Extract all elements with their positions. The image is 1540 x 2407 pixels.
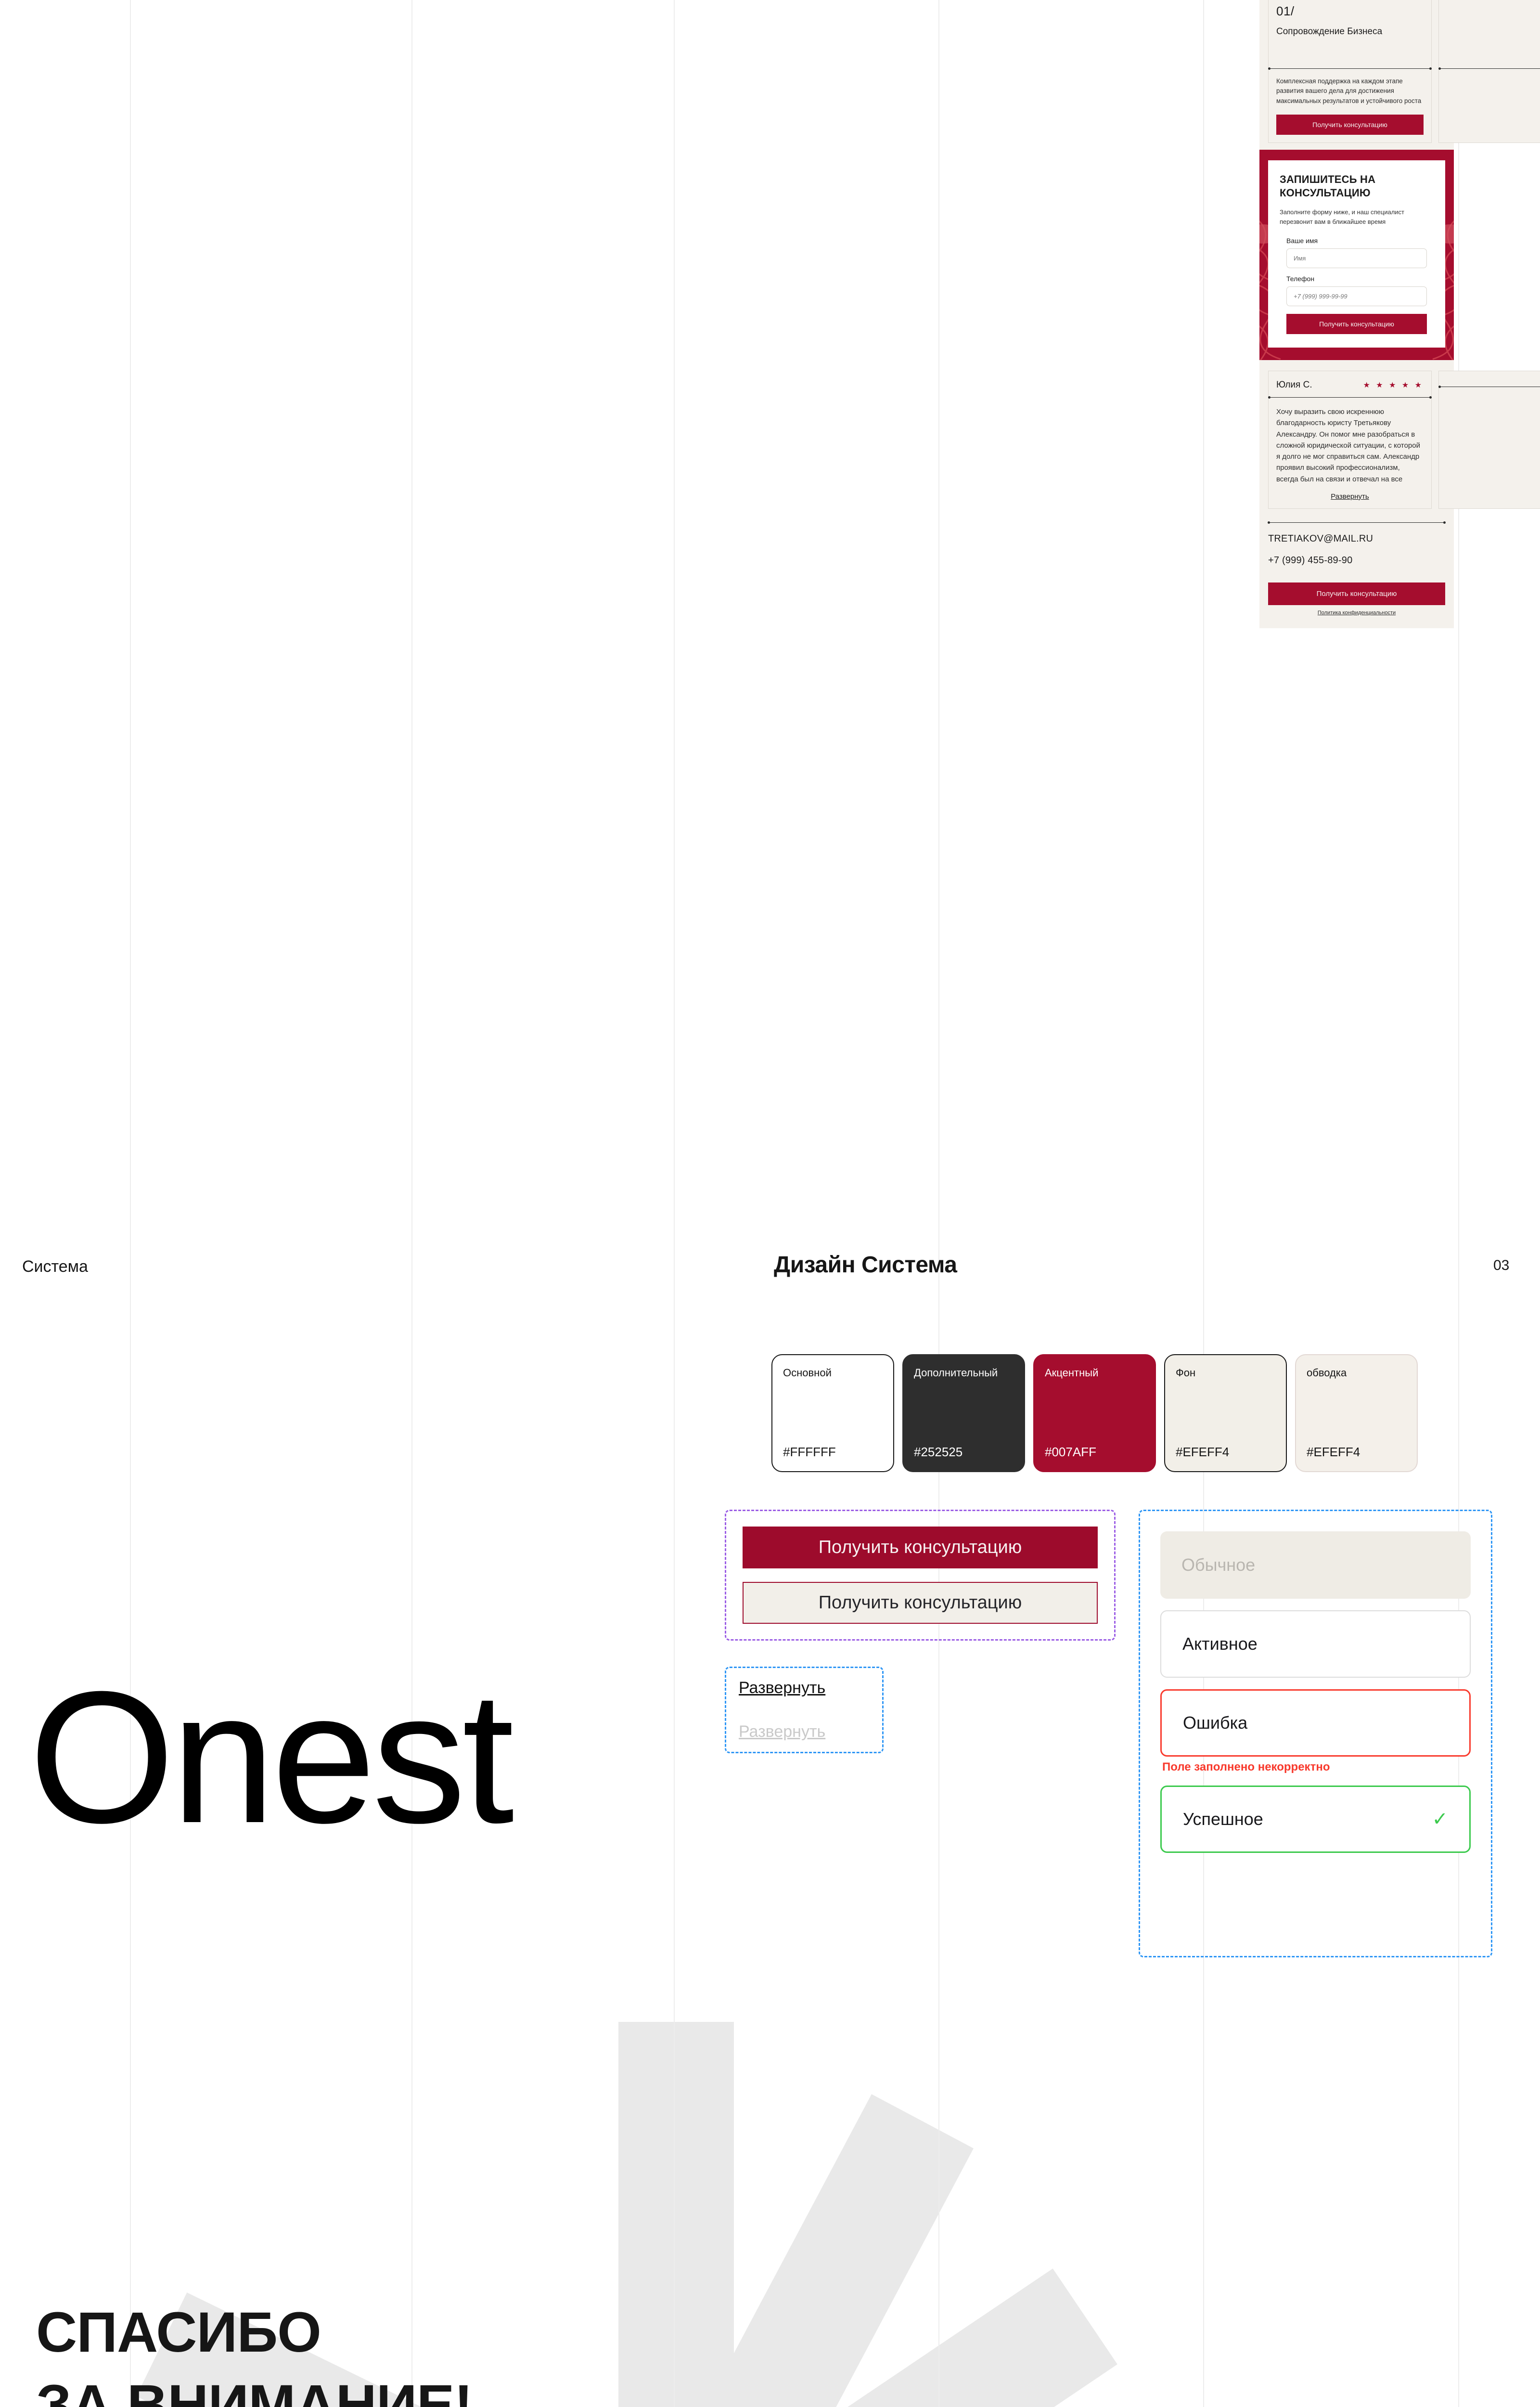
- divider: [1439, 68, 1540, 69]
- consultation-section: ЗАПИШИТЕСЬ НА КОНСУЛЬТАЦИЮ Заполните фор…: [1259, 150, 1454, 360]
- service-card-header: 01/ Сопровождение Бизнеса: [1269, 0, 1431, 68]
- consultation-submit-button[interactable]: Получить консультацию: [1286, 314, 1427, 334]
- review-card[interactable]: Юлия С. ★ ★ ★ ★ ★ Хочу выразить свою иск…: [1268, 371, 1432, 509]
- review-body: [1439, 387, 1540, 403]
- input-spec-group: Обычное Активное Ошибка Поле заполнено н…: [1139, 1510, 1492, 1957]
- color-swatch[interactable]: обводка #EFEFF4: [1295, 1354, 1418, 1472]
- swatch-hex: #EFEFF4: [1307, 1445, 1406, 1460]
- services-section: УСЛУГИ 01/ Сопровождение Бизнеса Комплек…: [1259, 0, 1454, 150]
- input-state-success[interactable]: Успешное ✓: [1160, 1786, 1471, 1853]
- thank-you-line-2: ЗА ВНИМАНИЕ!: [36, 2369, 473, 2407]
- review-card-next[interactable]: [1438, 371, 1540, 509]
- name-field-label: Ваше имя: [1286, 237, 1434, 245]
- input-state-active[interactable]: Активное: [1160, 1610, 1471, 1678]
- swatch-name: Акцентный: [1045, 1367, 1144, 1379]
- review-author: Юлия С.: [1276, 380, 1312, 390]
- font-specimen-onest: Onest: [29, 1663, 511, 1851]
- service-description: Комплексная поддержка на каждом этапе ра…: [1276, 77, 1424, 106]
- color-swatch[interactable]: Фон #EFEFF4: [1164, 1354, 1287, 1472]
- swatch-hex: #EFEFF4: [1176, 1445, 1275, 1460]
- color-swatch[interactable]: Основной #FFFFFF: [771, 1354, 894, 1472]
- expand-link-disabled: Развернуть: [739, 1722, 870, 1741]
- divider: [1269, 68, 1431, 69]
- expand-link[interactable]: Развернуть: [739, 1679, 870, 1697]
- phone-field-label: Телефон: [1286, 275, 1434, 283]
- contact-phone[interactable]: +7 (999) 455-89-90: [1268, 555, 1445, 566]
- swatch-name: Основной: [783, 1367, 883, 1379]
- review-header: Юлия С. ★ ★ ★ ★ ★: [1269, 371, 1431, 397]
- name-input[interactable]: [1286, 248, 1427, 268]
- color-swatch[interactable]: Дополнительный #252525: [902, 1354, 1025, 1472]
- service-card-body: Комплексная поддержка на каждом этапе ра…: [1269, 69, 1431, 142]
- swatch-name: обводка: [1307, 1367, 1406, 1379]
- divider: [1439, 387, 1540, 387]
- service-card[interactable]: 01/ Сопровождение Бизнеса Комплексная по…: [1268, 0, 1432, 143]
- swatch-hex: #FFFFFF: [783, 1445, 883, 1460]
- swatch-name: Дополнительный: [914, 1367, 1014, 1379]
- slide-left-label: Система: [22, 1257, 88, 1276]
- contacts-cta-button[interactable]: Получить консультацию: [1268, 582, 1445, 605]
- contacts-section: TRETIAKOV@MAIL.RU +7 (999) 455-89-90 Пол…: [1259, 519, 1454, 628]
- review-text: Хочу выразить свою искреннюю благодарнос…: [1276, 406, 1424, 485]
- divider: [1268, 522, 1445, 523]
- thank-you-heading: СПАСИБО ЗА ВНИМАНИЕ!: [36, 2296, 473, 2407]
- review-expand-link[interactable]: Развернуть: [1276, 492, 1424, 501]
- color-palette: Основной #FFFFFF Дополнительный #252525 …: [771, 1354, 1418, 1472]
- privacy-policy-link[interactable]: Политика конфиденциальности: [1268, 610, 1445, 616]
- contact-email[interactable]: TRETIAKOV@MAIL.RU: [1268, 533, 1445, 544]
- input-state-error[interactable]: Ошибка: [1160, 1689, 1471, 1757]
- swatch-hex: #007AFF: [1045, 1445, 1144, 1460]
- consultation-heading: ЗАПИШИТЕСЬ НА КОНСУЛЬТАЦИЮ: [1280, 173, 1434, 200]
- input-success-value: Успешное: [1183, 1809, 1263, 1829]
- service-cta-button[interactable]: Получить консультацию: [1276, 115, 1424, 135]
- service-number: 01/: [1276, 4, 1424, 19]
- review-header: [1439, 371, 1540, 387]
- button-spec-group: Получить консультацию Получить консульта…: [725, 1510, 1116, 1641]
- check-icon: ✓: [1432, 1808, 1448, 1830]
- input-error-message: Поле заполнено некорректно: [1162, 1760, 1471, 1774]
- page-title: Дизайн Система: [774, 1252, 957, 1278]
- divider: [1269, 397, 1431, 398]
- color-swatch[interactable]: Акцентный #007AFF: [1033, 1354, 1156, 1472]
- consultation-subtitle: Заполните форму ниже, и наш специалист п…: [1280, 207, 1434, 226]
- star-rating-icon: ★ ★ ★ ★ ★: [1363, 380, 1424, 390]
- secondary-button[interactable]: Получить консультацию: [743, 1582, 1098, 1624]
- reviews-section: Юлия С. ★ ★ ★ ★ ★ Хочу выразить свою иск…: [1259, 360, 1454, 519]
- service-card-header: [1439, 0, 1540, 68]
- thank-you-line-1: СПАСИБО: [36, 2296, 473, 2369]
- mobile-mockup: УСЛУГИ 01/ Сопровождение Бизнеса Комплек…: [1259, 0, 1454, 628]
- link-spec-group: Развернуть Развернуть: [725, 1667, 884, 1753]
- service-card-next[interactable]: [1438, 0, 1540, 143]
- consultation-card: ЗАПИШИТЕСЬ НА КОНСУЛЬТАЦИЮ Заполните фор…: [1268, 160, 1445, 348]
- swatch-hex: #252525: [914, 1445, 1014, 1460]
- primary-button[interactable]: Получить консультацию: [743, 1527, 1098, 1568]
- slide-number: 03: [1493, 1257, 1509, 1274]
- phone-input[interactable]: [1286, 286, 1427, 306]
- swatch-name: Фон: [1176, 1367, 1275, 1379]
- input-state-normal[interactable]: Обычное: [1160, 1531, 1471, 1599]
- service-card-body: [1439, 69, 1540, 84]
- review-body: Хочу выразить свою искреннюю благодарнос…: [1269, 398, 1431, 508]
- service-title: Сопровождение Бизнеса: [1276, 26, 1424, 38]
- services-card-list: 01/ Сопровождение Бизнеса Комплексная по…: [1268, 0, 1445, 143]
